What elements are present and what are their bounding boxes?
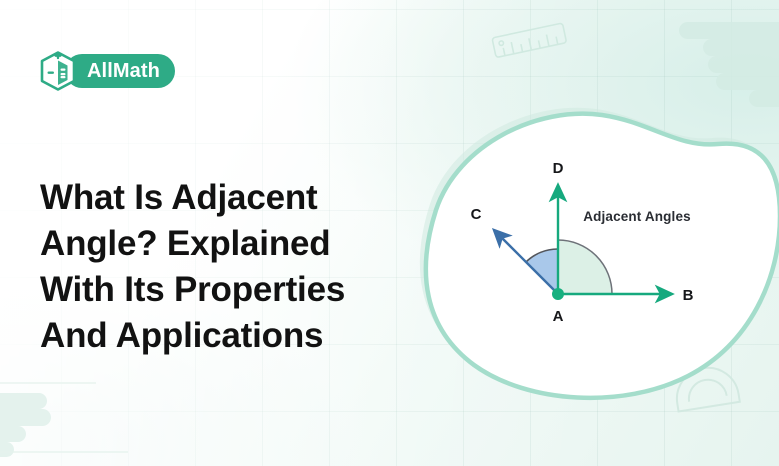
- page-title: What Is Adjacent Angle? Explained With I…: [40, 175, 400, 358]
- label-b: B: [683, 287, 694, 304]
- headline-line-4: And Applications: [40, 313, 400, 359]
- blob-shape: [426, 114, 779, 398]
- headline-line-1: What Is Adjacent: [40, 175, 400, 221]
- brand-name: AllMath: [65, 54, 175, 88]
- label-a: A: [553, 308, 564, 325]
- adjacent-angles-figure: D C B A Adjacent Angles: [388, 82, 779, 412]
- headline-line-2: Angle? Explained: [40, 221, 400, 267]
- math-cube-icon: [38, 50, 78, 92]
- brand-logo[interactable]: AllMath: [38, 50, 175, 92]
- vertex-dot: [552, 288, 564, 300]
- label-c: C: [471, 206, 482, 223]
- label-d: D: [553, 160, 564, 177]
- figure-caption: Adjacent Angles: [583, 209, 691, 224]
- banner-canvas: AllMath What Is Adjacent Angle? Explaine…: [0, 0, 779, 466]
- headline-line-3: With Its Properties: [40, 267, 400, 313]
